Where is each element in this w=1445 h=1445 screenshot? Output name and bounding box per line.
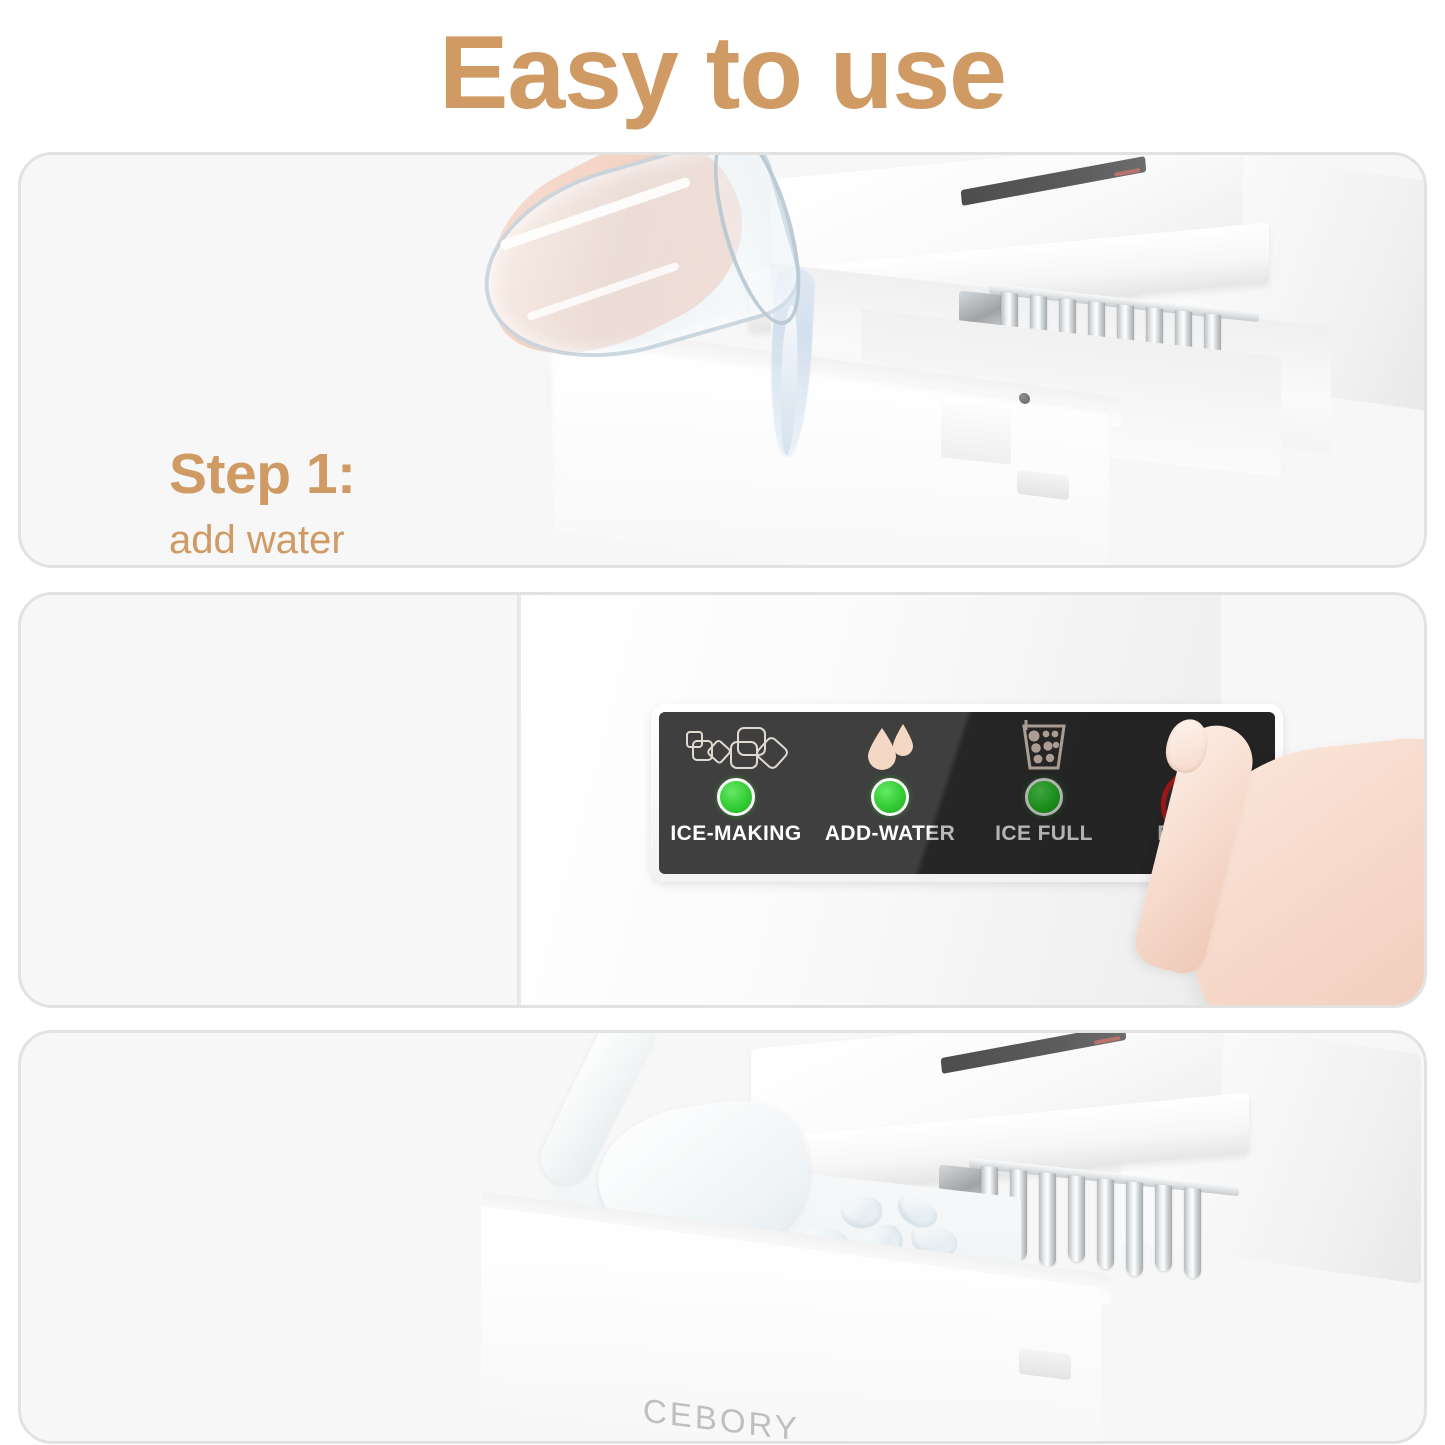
led-add-water <box>871 778 909 816</box>
indicator-ice-making[interactable]: ICE-MAKING <box>659 712 813 874</box>
ice-cup-icon <box>1012 720 1076 772</box>
indicator-label-ice-making: ICE-MAKING <box>659 822 813 846</box>
ice-cubes-icon <box>681 720 791 772</box>
step-card-3: CEBORY Step 3 Scoop ice and be refreshed <box>18 1030 1427 1444</box>
water-drops-icon <box>858 720 922 772</box>
led-ice-full <box>1025 778 1063 816</box>
evaporator-prong <box>1155 1184 1172 1272</box>
indicator-ice-full[interactable]: ICE FULL <box>967 712 1121 874</box>
step-1-illustration <box>441 155 1427 565</box>
evaporator-prong <box>1126 1181 1143 1277</box>
step-1-text: Step 1: add water <box>169 441 356 568</box>
indicator-add-water[interactable]: ADD-WATER <box>813 712 967 874</box>
reservoir-divider <box>941 401 1011 464</box>
evaporator-prong <box>1068 1175 1085 1263</box>
step-card-2: ICE-MAKING <box>18 592 1427 1008</box>
infographic-page: Easy to use <box>0 0 1445 1445</box>
screw-icon <box>1019 392 1030 404</box>
led-ice-making <box>717 778 755 816</box>
page-title: Easy to use <box>0 16 1445 130</box>
evaporator-prong <box>1039 1172 1056 1268</box>
step-card-1-content: Step 1: add water <box>21 155 1424 565</box>
step-1-heading: Step 1: <box>169 441 356 508</box>
evaporator-prong <box>1097 1178 1114 1270</box>
step-card-1: Step 1: add water <box>18 152 1427 568</box>
step-1-body: add water <box>169 514 356 568</box>
step-2-illustration: ICE-MAKING <box>21 595 1427 1005</box>
indicator-label-ice-full: ICE FULL <box>967 822 1121 846</box>
evaporator-prong <box>1184 1187 1201 1279</box>
step-card-3-content: CEBORY Step 3 Scoop ice and be refreshed <box>21 1033 1424 1441</box>
step-3-illustration: CEBORY <box>421 1033 1427 1443</box>
step-card-2-content: ICE-MAKING <box>21 595 1424 1005</box>
indicator-label-add-water: ADD-WATER <box>813 822 967 846</box>
